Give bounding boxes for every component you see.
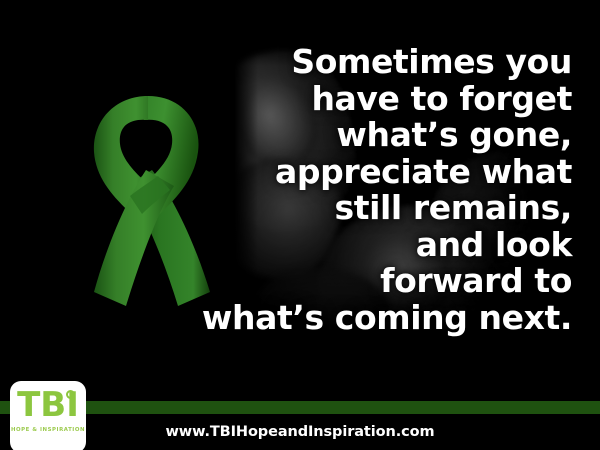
ring-dot-icon	[66, 390, 75, 399]
quote-line: and look	[142, 227, 572, 264]
quote-line: Sometimes you	[142, 44, 572, 81]
quote-line: forward to	[142, 263, 572, 300]
inspirational-quote-card: Sometimes you have to forget what’s gone…	[0, 0, 600, 450]
quote-line: have to forget	[142, 81, 572, 118]
quote-line: still remains,	[142, 190, 572, 227]
green-divider-band	[0, 401, 600, 414]
quote-line: what’s coming next.	[142, 300, 572, 337]
tbi-logo-text: TBI	[10, 388, 86, 422]
quote-line: appreciate what	[142, 154, 572, 191]
website-url[interactable]: www.TBIHopeandInspiration.com	[0, 424, 600, 440]
quote-text: Sometimes you have to forget what’s gone…	[142, 44, 572, 336]
quote-line: what’s gone,	[142, 117, 572, 154]
